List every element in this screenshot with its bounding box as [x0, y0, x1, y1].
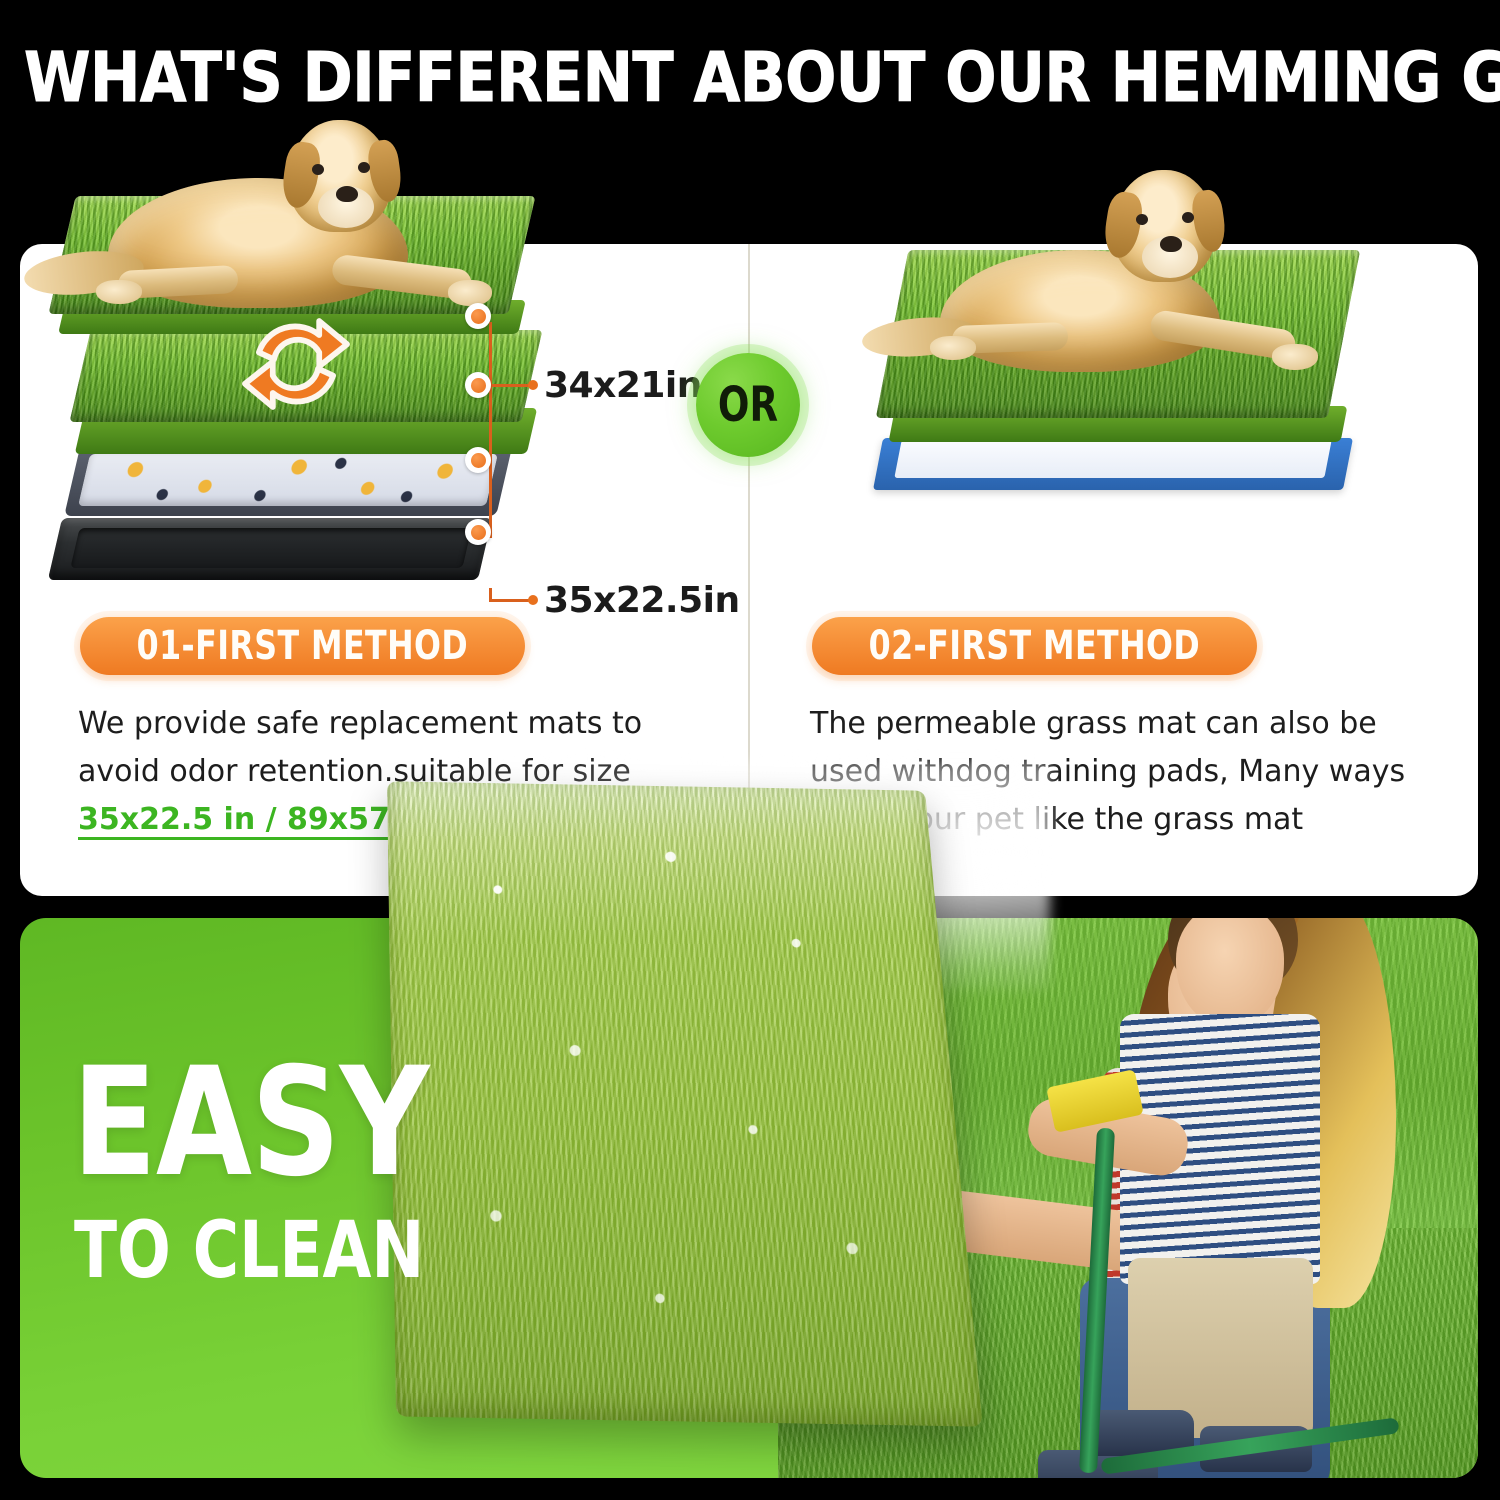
infographic-canvas: WHAT'S DIFFERENT ABOUT OUR HEMMING GRASS…	[0, 0, 1500, 1500]
page-title: WHAT'S DIFFERENT ABOUT OUR HEMMING GRASS…	[24, 42, 1432, 114]
layer-black-tray-inner	[70, 528, 471, 568]
callout-label-tray-size: 35x22.5in	[544, 580, 740, 621]
method-01-badge: 01-FIRST METHOD	[80, 617, 525, 675]
feature-title-line1: EASY	[72, 1048, 429, 1198]
refresh-swap-icon	[238, 306, 354, 422]
callout-dot-3	[465, 447, 491, 473]
wet-grass-mat-product	[387, 781, 983, 1426]
method-02-badge-label: 02-FIRST METHOD	[869, 623, 1201, 669]
callout-dot-2	[465, 372, 491, 398]
layer-patterned-pee-pad	[78, 454, 498, 506]
or-badge: OR	[696, 353, 800, 457]
feature-title-line2: TO CLEAN	[74, 1212, 424, 1290]
layer-blue-training-pad-inner	[894, 440, 1331, 478]
method-01-badge-label: 01-FIRST METHOD	[137, 623, 469, 669]
callout-dot-1	[465, 303, 491, 329]
method-02-badge: 02-FIRST METHOD	[812, 617, 1257, 675]
method-01-size-highlight: 35x22.5 in / 89x57cm	[78, 802, 439, 840]
callout-label-grass-size: 34x21in	[544, 365, 702, 406]
or-badge-label: OR	[718, 377, 778, 433]
callout-dot-4	[465, 519, 491, 545]
